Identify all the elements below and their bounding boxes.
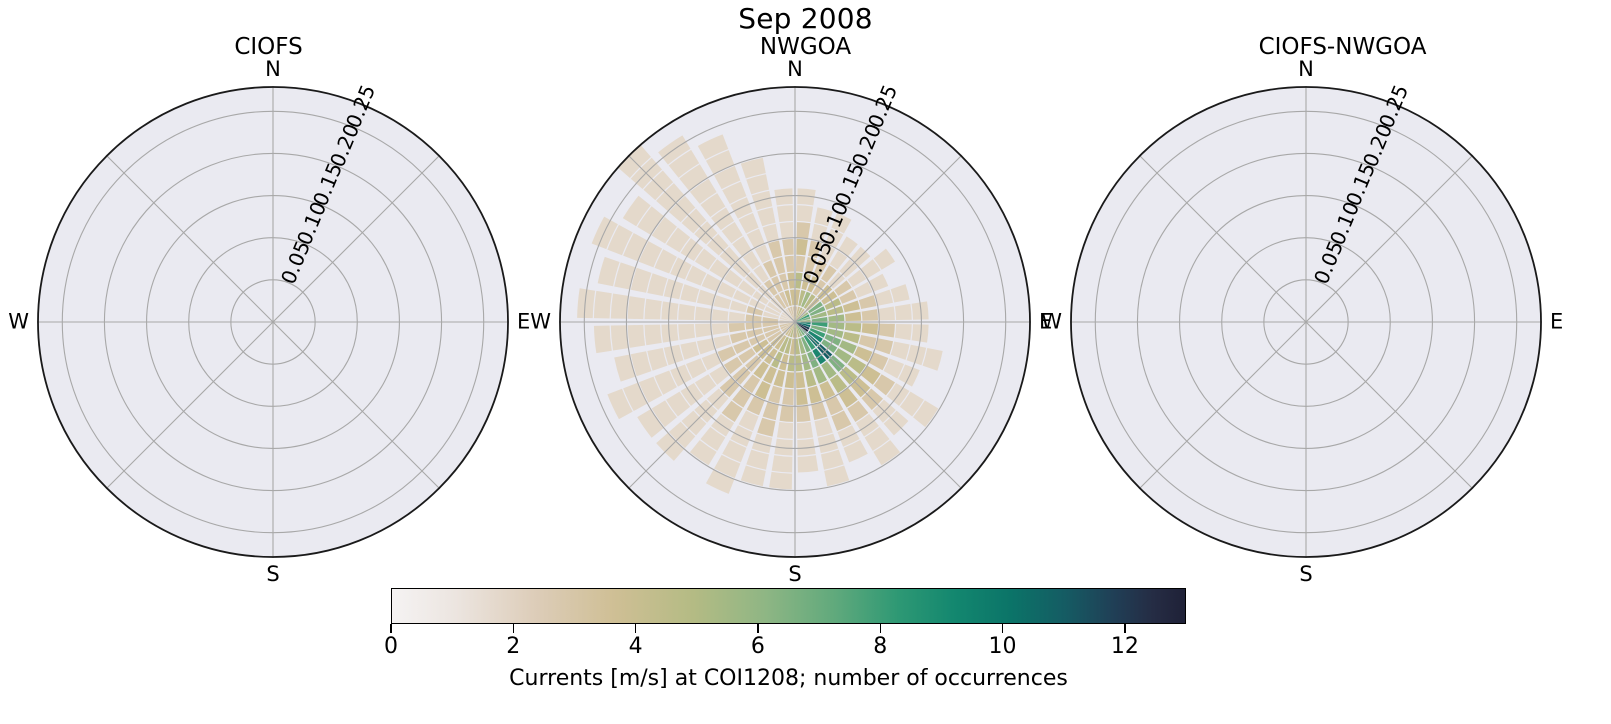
polar-axes-ciofs[interactable] <box>37 86 509 558</box>
rose-cell <box>895 324 912 340</box>
rose-cell <box>768 386 782 404</box>
cardinal-label-w: W <box>1041 312 1062 333</box>
colorbar-gradient <box>391 588 1186 624</box>
rose-cell <box>859 295 877 309</box>
rose-cell <box>891 341 910 359</box>
rose-cell <box>798 455 819 472</box>
rose-cell <box>713 295 731 309</box>
rose-cell <box>678 324 695 340</box>
rose-cell <box>752 434 773 454</box>
panel-title-ciofs-nwgoa: CIOFS-NWGOA <box>1074 34 1611 60</box>
rose-cell <box>859 335 877 349</box>
colorbar-tick-label: 12 <box>1111 636 1139 658</box>
rose-cell <box>845 312 861 321</box>
rose-cell <box>628 296 645 319</box>
rose-cell <box>757 418 775 437</box>
rose-cell <box>808 386 822 404</box>
polar-axes-ciofs-nwgoa[interactable] <box>1070 86 1542 558</box>
rose-cell <box>923 348 943 371</box>
rose-cell <box>746 174 769 194</box>
colorbar-tick-label: 2 <box>506 636 520 658</box>
rose-cell <box>664 345 684 366</box>
rose-cell <box>680 284 699 302</box>
colorbar-tick-label: 10 <box>989 636 1017 658</box>
rose-cell <box>645 325 662 346</box>
cardinal-label-w: W <box>8 312 29 333</box>
rose-cell <box>664 279 684 300</box>
cardinal-label-n: N <box>265 59 281 80</box>
rose-cell <box>628 325 645 348</box>
colorbar-tick <box>757 624 758 633</box>
rose-cell <box>752 191 773 211</box>
rose-cell <box>713 335 731 349</box>
rose-cell <box>695 324 712 338</box>
rose-cell <box>780 222 794 239</box>
rose-cell <box>782 389 794 405</box>
rose-cell <box>712 309 728 321</box>
rose-cell <box>768 240 782 258</box>
angular-gridline <box>1139 155 1306 322</box>
colorbar-tick <box>513 624 514 633</box>
rose-cell <box>796 372 805 388</box>
rose-cell <box>862 309 878 321</box>
angular-gridline <box>273 322 440 489</box>
polar-axes-nwgoa[interactable] <box>559 86 1031 558</box>
polar-grid <box>37 86 509 558</box>
panel-title-nwgoa: NWGOA <box>537 34 1074 60</box>
rose-cell <box>814 418 832 437</box>
cardinal-label-n: N <box>1298 59 1314 80</box>
rose-cell <box>895 304 912 320</box>
rose-cell <box>594 291 612 319</box>
rose-cell <box>797 422 813 439</box>
angular-gridline <box>1139 322 1306 489</box>
rose-cell <box>785 256 794 272</box>
rose-cell <box>780 405 794 422</box>
rose-cell <box>891 284 910 302</box>
colorbar-tick-label: 6 <box>751 636 765 658</box>
rose-cell <box>757 207 775 226</box>
rose-cell <box>878 324 895 338</box>
colorbar-tick-label: 0 <box>384 636 398 658</box>
rose-cell <box>777 422 793 439</box>
cardinal-label-s: S <box>266 564 279 585</box>
rose-cell <box>647 348 667 371</box>
colorbar-tick <box>635 624 636 633</box>
colorbar-tick <box>1002 624 1003 633</box>
polar-grid <box>1070 86 1542 558</box>
colorbar: 024681012 Currents [m/s] at COI1208; num… <box>391 588 1186 708</box>
rose-cell <box>869 274 888 292</box>
rose-cell <box>746 450 769 470</box>
rose-cell <box>772 455 793 472</box>
rose-cell <box>797 205 813 222</box>
angular-gridline <box>106 322 273 489</box>
cardinal-label-n: N <box>787 59 803 80</box>
colorbar-tick <box>880 624 881 633</box>
rose-cell <box>797 405 811 422</box>
rose-cell <box>796 239 808 255</box>
cardinal-label-e: E <box>517 312 530 333</box>
colorbar-tick-label: 4 <box>629 636 643 658</box>
rose-cell <box>611 294 629 319</box>
colorbar-label: Currents [m/s] at COI1208; number of occ… <box>391 666 1186 691</box>
rose-cell <box>878 307 895 321</box>
rose-cell <box>796 389 808 405</box>
rose-cell <box>680 341 699 359</box>
rose-cell <box>797 222 811 239</box>
rose-cell <box>845 323 861 332</box>
rose-cell <box>782 239 794 255</box>
rose-cell <box>729 323 745 332</box>
figure-canvas: Sep 2008 CIOFS NWGOA CIOFS-NWGOA 0246810… <box>0 0 1611 724</box>
rose-cell <box>647 273 667 296</box>
rose-cell <box>821 450 844 470</box>
rose-cell <box>862 323 878 335</box>
rose-cell <box>907 345 927 366</box>
rose-cell <box>729 312 745 321</box>
rose-cell <box>611 325 629 350</box>
colorbar-tick <box>1124 624 1125 633</box>
rose-cell <box>678 304 695 320</box>
cardinal-label-s: S <box>1299 564 1312 585</box>
colorbar-tick-label: 8 <box>873 636 887 658</box>
angular-gridline <box>1306 322 1473 489</box>
angular-gridline <box>106 155 273 322</box>
rose-cell <box>785 372 794 388</box>
cardinal-label-w: W <box>530 312 551 333</box>
rose-cell <box>712 323 728 335</box>
polar-grid <box>559 86 1031 558</box>
rose-cell <box>818 434 839 454</box>
rose-cell <box>645 299 662 320</box>
rose-cell <box>769 472 792 489</box>
rose-cell <box>695 307 712 321</box>
rose-cell <box>777 205 793 222</box>
colorbar-tick <box>390 624 391 633</box>
cardinal-label-e: E <box>1550 312 1563 333</box>
cardinal-label-s: S <box>788 564 801 585</box>
rose-cell <box>594 326 612 354</box>
